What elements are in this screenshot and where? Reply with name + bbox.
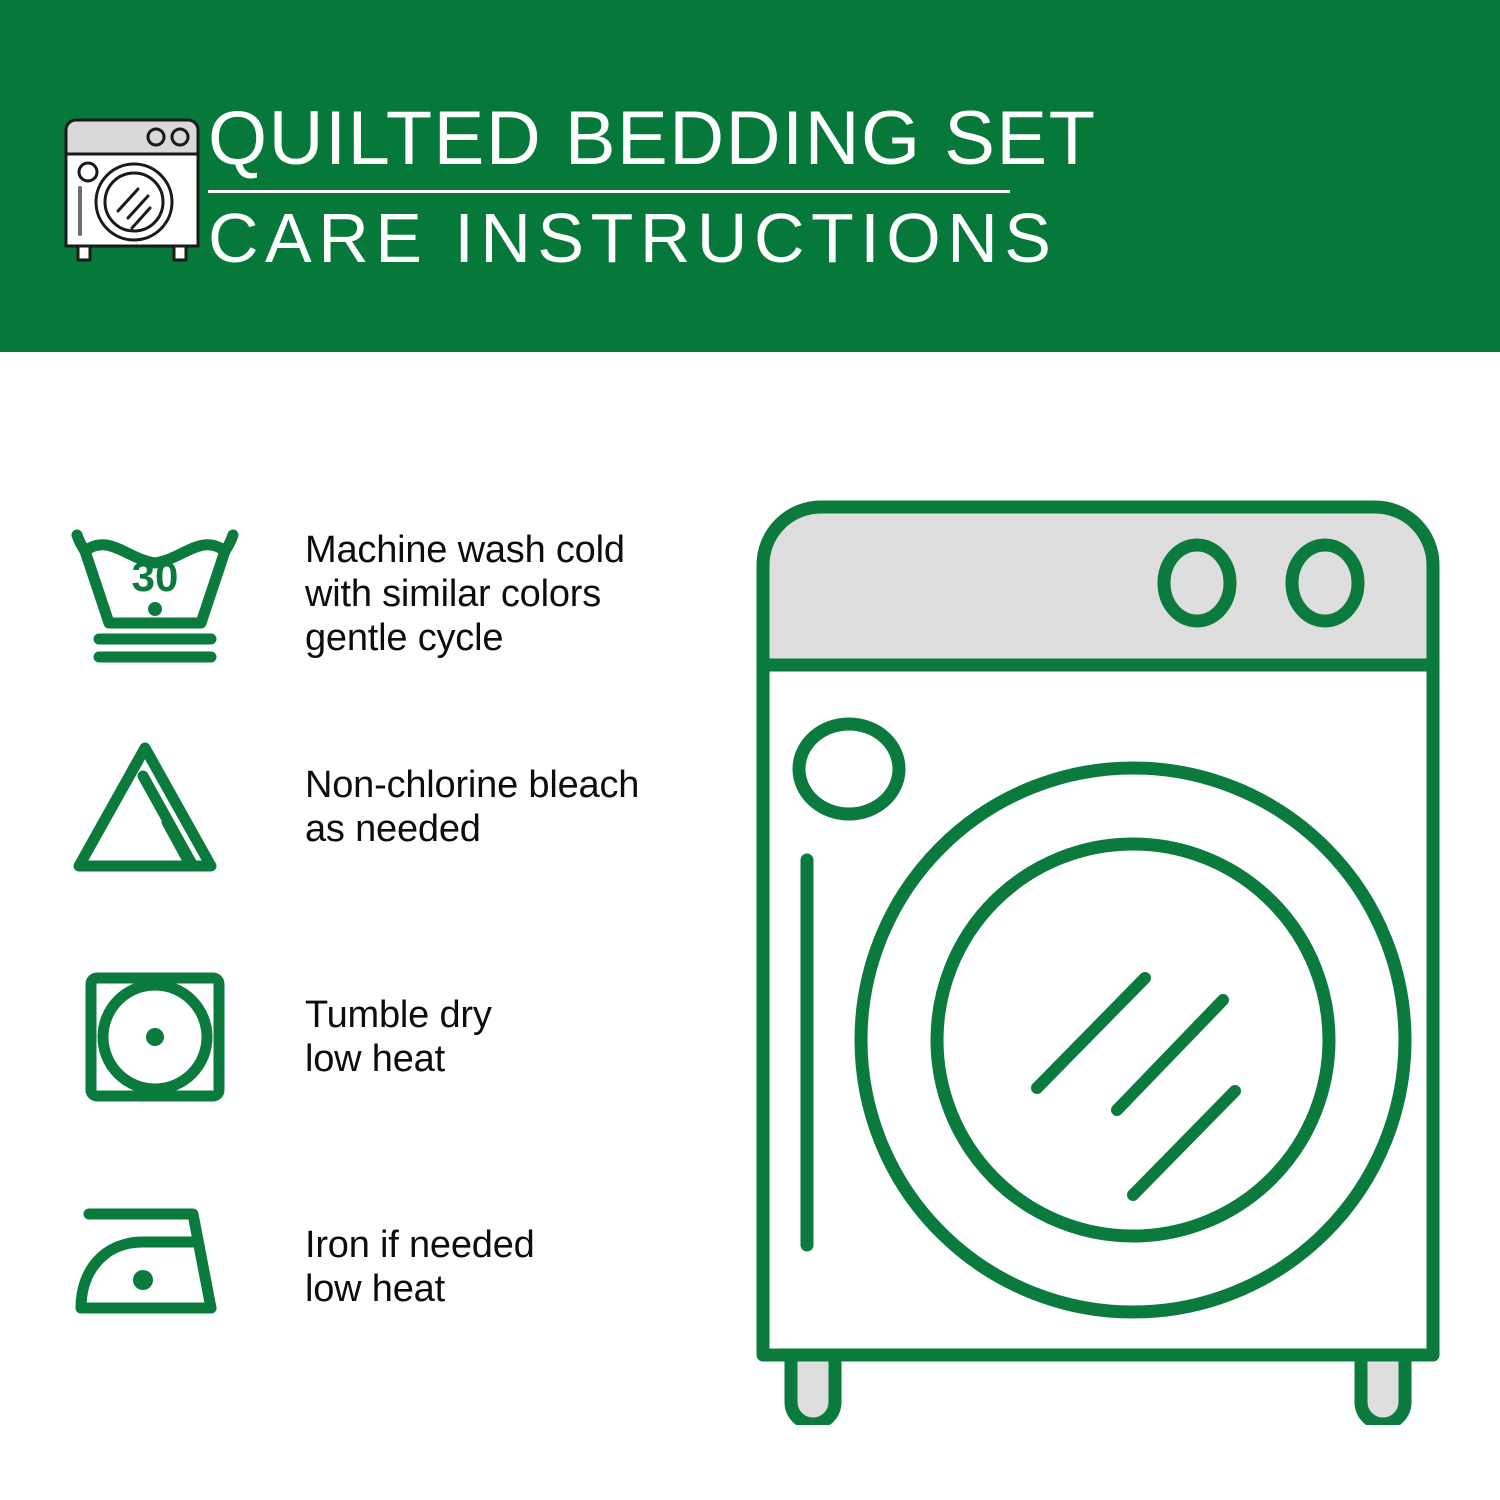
care-label-line: low heat [305, 1267, 535, 1311]
knob-left [1164, 545, 1230, 621]
care-row-tumble-dry: Tumble dry low heat [0, 952, 740, 1122]
detergent-indicator [799, 724, 899, 814]
wash-temperature-value: 30 [132, 553, 179, 600]
care-label-machine-wash: Machine wash cold with similar colors ge… [305, 528, 625, 660]
header-text-block: QUILTED BEDDING SET CARE INSTRUCTIONS [208, 98, 1028, 277]
care-label-line: with similar colors [305, 572, 625, 616]
care-label-bleach: Non-chlorine bleach as needed [305, 763, 639, 851]
care-row-bleach: Non-chlorine bleach as needed [0, 722, 740, 892]
washing-machine-icon [62, 106, 202, 266]
front-load-washing-machine-illustration [745, 495, 1455, 1425]
care-label-iron: Iron if needed low heat [305, 1223, 535, 1311]
page-title: QUILTED BEDDING SET [208, 98, 1028, 180]
care-row-iron: Iron if needed low heat [0, 1182, 740, 1352]
care-row-machine-wash: 30 Machine wash cold with similar colors… [0, 504, 740, 684]
care-label-line: gentle cycle [305, 616, 625, 660]
iron-low-heat-icon [60, 1192, 250, 1342]
knob-right [1292, 545, 1358, 621]
page-subtitle: CARE INSTRUCTIONS [208, 199, 1028, 277]
care-instructions-page: QUILTED BEDDING SET CARE INSTRUCTIONS [0, 0, 1500, 1500]
care-label-line: Iron if needed [305, 1223, 535, 1267]
care-label-tumble-dry: Tumble dry low heat [305, 993, 492, 1081]
non-chlorine-bleach-triangle-icon [60, 732, 250, 882]
care-label-line: Tumble dry [305, 993, 492, 1037]
care-instruction-list: 30 Machine wash cold with similar colors… [0, 352, 740, 1500]
title-divider [208, 190, 1010, 193]
care-label-line: Machine wash cold [305, 528, 625, 572]
care-label-line: as needed [305, 807, 639, 851]
care-label-line: low heat [305, 1037, 492, 1081]
care-label-line: Non-chlorine bleach [305, 763, 639, 807]
machine-wash-30-gentle-icon: 30 [60, 519, 250, 669]
header-banner: QUILTED BEDDING SET CARE INSTRUCTIONS [0, 0, 1500, 352]
tumble-dry-low-icon [60, 962, 250, 1112]
